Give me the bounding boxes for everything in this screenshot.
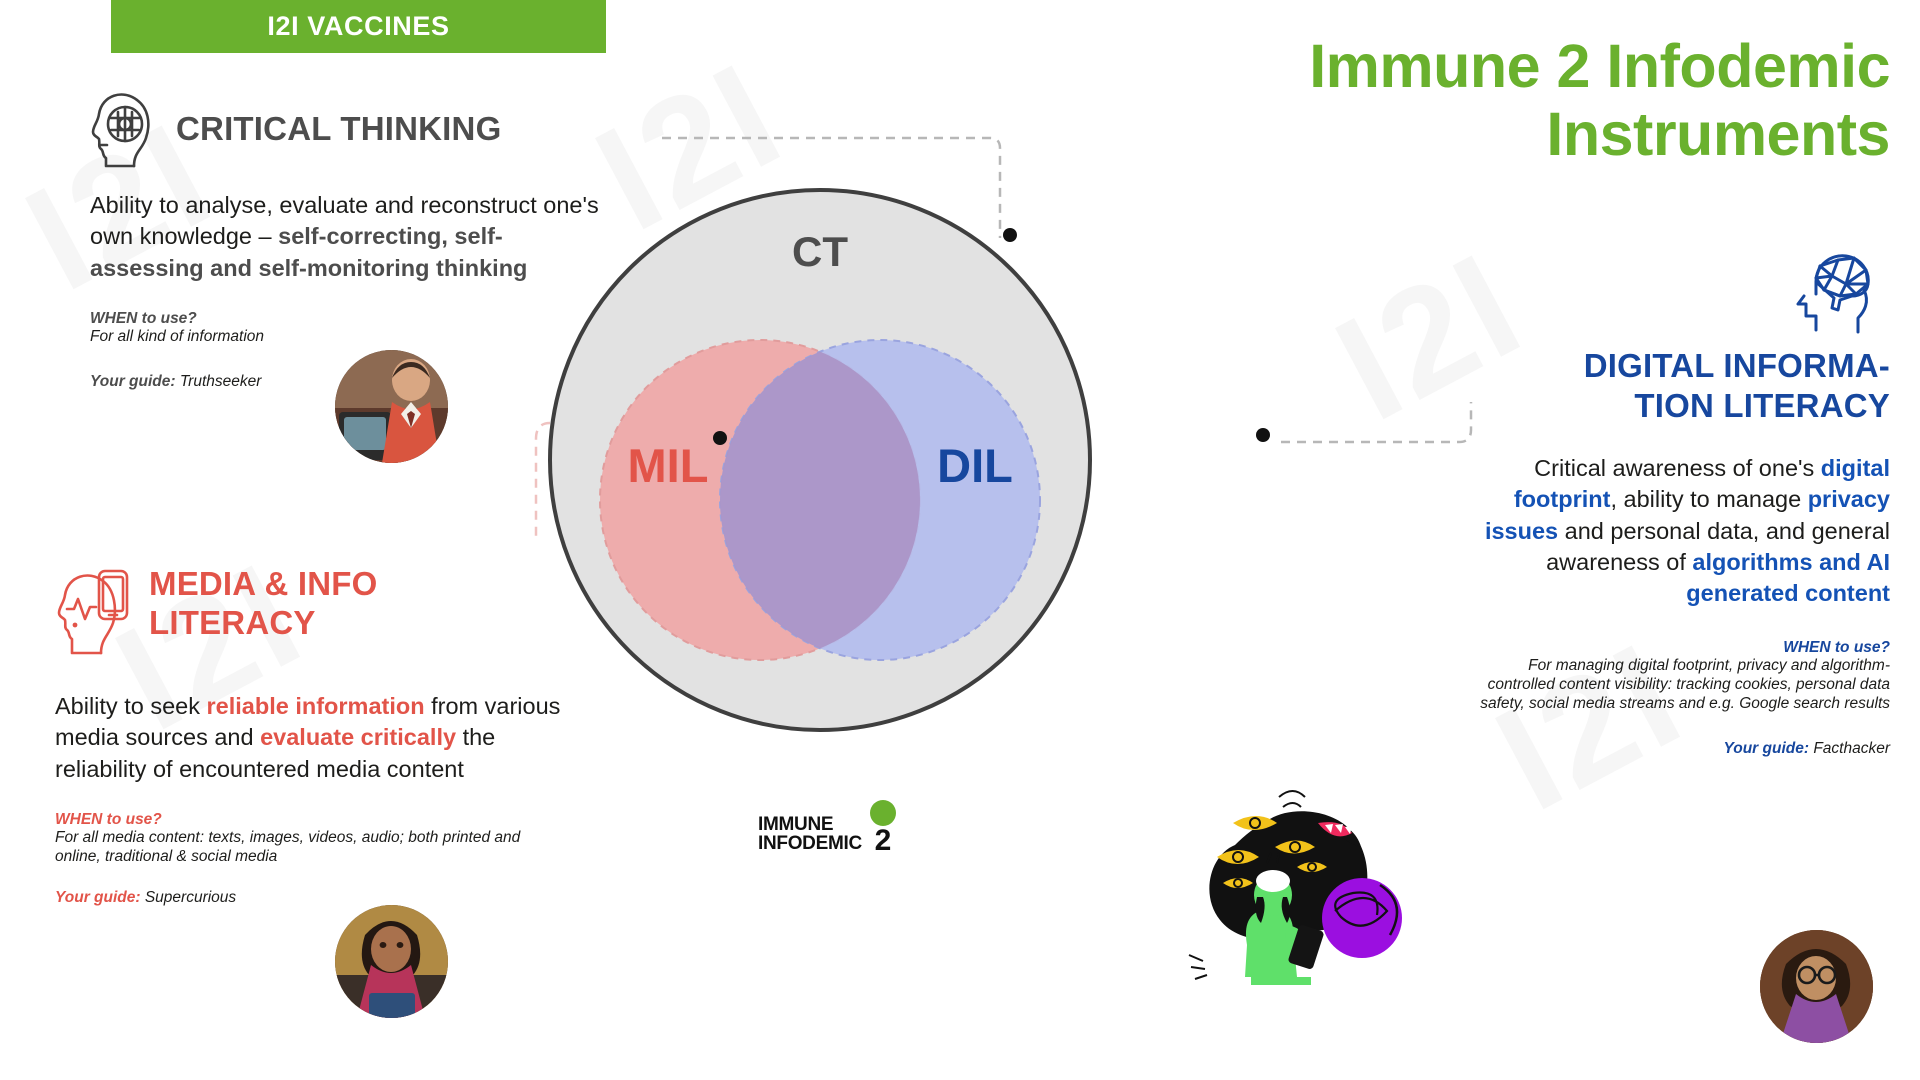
anchor-dot-mil <box>713 431 727 445</box>
head-network-brain-icon <box>1794 250 1890 334</box>
section-critical-thinking: CRITICAL THINKING Ability to analyse, ev… <box>90 90 730 391</box>
logo-numeral: 2 <box>875 828 892 854</box>
avatar-truthseeker <box>335 350 448 463</box>
logo-line2: INFODEMIC <box>758 835 862 854</box>
critical-thinking-body: Ability to analyse, evaluate and reconst… <box>90 190 610 284</box>
venn-label-mil: MIL <box>628 439 709 492</box>
digital-information-literacy-title-line1: DIGITAL INFORMA- <box>1470 346 1890 386</box>
i2i-vaccines-badge: I2I VACCINES <box>111 0 606 53</box>
media-info-literacy-header: MEDIA & INFO LITERACY <box>55 565 675 655</box>
media-info-literacy-guide-label: Your guide: <box>55 889 141 906</box>
media-info-literacy-when: WHEN to use? For all media content: text… <box>55 811 675 867</box>
media-info-literacy-guide-name: Supercurious <box>145 889 236 906</box>
section-digital-information-literacy: DIGITAL INFORMA- TION LITERACY Critical … <box>1470 250 1890 758</box>
avatar-facthacker <box>1760 930 1873 1043</box>
head-phone-pulse-icon <box>55 569 133 655</box>
digital-information-literacy-guide-label: Your guide: <box>1723 740 1809 757</box>
critical-thinking-guide-name: Truthseeker <box>180 373 262 390</box>
logo-wordmark: IMMUNE INFODEMIC <box>758 816 862 853</box>
digital-information-literacy-when-label: WHEN to use? <box>1470 639 1890 657</box>
page-title-line2: Instruments <box>1070 100 1890 168</box>
anchor-dot-ct <box>1003 228 1017 242</box>
critical-thinking-header: CRITICAL THINKING <box>90 90 730 168</box>
page-title-line1: Immune 2 Infodemic <box>1070 32 1890 100</box>
media-info-literacy-when-label: WHEN to use? <box>55 811 675 829</box>
immune-infodemic-logo: IMMUNE INFODEMIC 2 <box>758 800 896 854</box>
media-info-literacy-title-line1: MEDIA & INFO <box>149 565 378 604</box>
venn-label-ct: CT <box>792 228 848 275</box>
i2i-vaccines-badge-label: I2I VACCINES <box>267 11 449 42</box>
section-media-info-literacy: MEDIA & INFO LITERACY Ability to seek re… <box>55 565 675 907</box>
digital-information-literacy-when-body: For managing digital footprint, privacy … <box>1470 657 1890 714</box>
digital-information-literacy-icon-wrap <box>1470 250 1890 334</box>
digital-information-literacy-body: Critical awareness of one's digital foot… <box>1470 453 1890 609</box>
infodemic-monster-illustration <box>1175 785 1425 1015</box>
digital-information-literacy-when: WHEN to use? For managing digital footpr… <box>1470 639 1890 714</box>
media-info-literacy-guide: Your guide: Supercurious <box>55 889 675 907</box>
media-info-literacy-title: MEDIA & INFO LITERACY <box>149 565 378 643</box>
media-info-literacy-when-body: For all media content: texts, images, vi… <box>55 829 560 867</box>
anchor-dot-dil <box>1256 428 1270 442</box>
monster-purple-orb <box>1322 878 1402 958</box>
digital-information-literacy-guide: Your guide: Facthacker <box>1470 740 1890 758</box>
critical-thinking-when-label: WHEN to use? <box>90 310 730 328</box>
head-brain-gear-icon <box>90 90 160 168</box>
critical-thinking-guide-label: Your guide: <box>90 373 176 390</box>
monster-person-hair <box>1256 870 1290 892</box>
critical-thinking-when: WHEN to use? For all kind of information <box>90 310 730 347</box>
infographic-canvas: I2I I2I I2I I2I I2I I2I VACCINES Immune … <box>0 0 1920 1080</box>
media-info-literacy-title-line2: LITERACY <box>149 604 378 643</box>
logo-green-dot <box>870 800 896 826</box>
page-title: Immune 2 Infodemic Instruments <box>1070 32 1890 169</box>
avatar-supercurious <box>335 905 448 1018</box>
critical-thinking-title: CRITICAL THINKING <box>176 111 501 148</box>
digital-information-literacy-title-line2: TION LITERACY <box>1470 386 1890 426</box>
venn-label-dil: DIL <box>937 439 1013 492</box>
digital-information-literacy-guide-name: Facthacker <box>1813 740 1890 757</box>
digital-information-literacy-title: DIGITAL INFORMA- TION LITERACY <box>1470 346 1890 425</box>
critical-thinking-when-body: For all kind of information <box>90 328 390 347</box>
media-info-literacy-body: Ability to seek reliable information fro… <box>55 691 580 785</box>
